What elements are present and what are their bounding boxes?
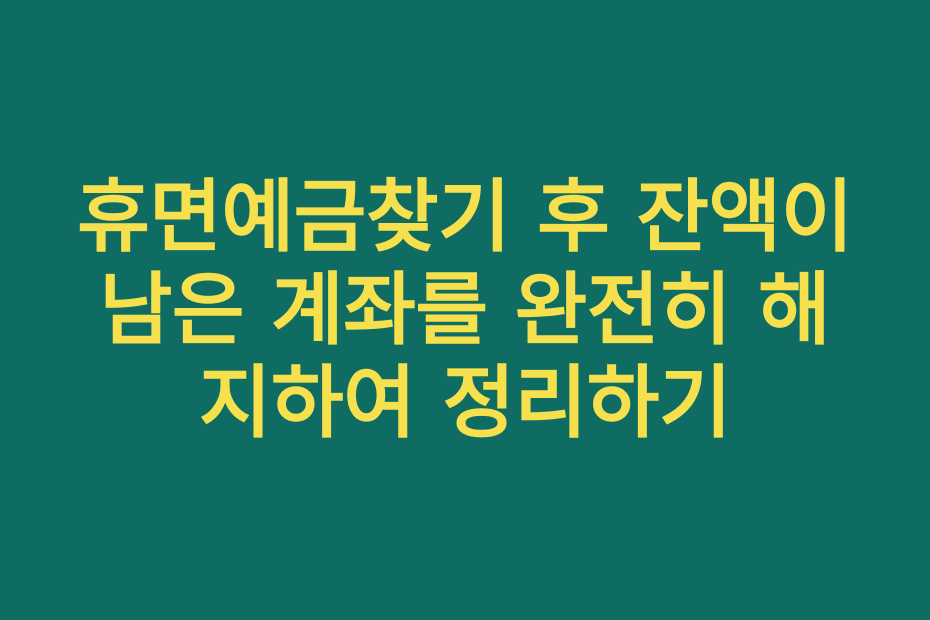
- headline-line-1: 휴면예금찾기 후 잔액이: [0, 171, 930, 264]
- headline-text-block: 휴면예금찾기 후 잔액이 남은 계좌를 완전히 해 지하여 정리하기: [0, 171, 930, 450]
- headline-line-2: 남은 계좌를 완전히 해: [0, 264, 930, 357]
- thumbnail-canvas: 휴면예금찾기 후 잔액이 남은 계좌를 완전히 해 지하여 정리하기: [0, 0, 930, 620]
- headline-line-3: 지하여 정리하기: [0, 357, 930, 450]
